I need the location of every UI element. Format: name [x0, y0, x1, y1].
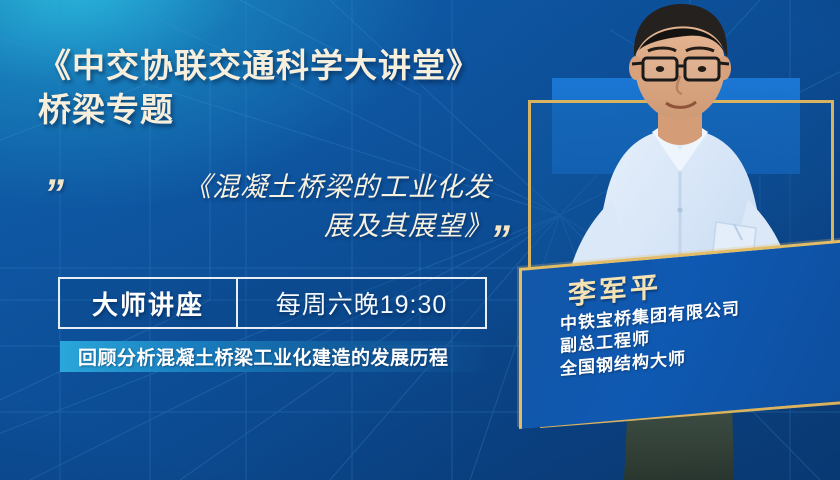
- lecture-type-label: 大师讲座: [92, 285, 204, 322]
- quote-close-icon: ”: [490, 220, 510, 260]
- title-line-1: 《中交协联交通科学大讲堂》: [38, 44, 538, 88]
- quote-open-icon: ”: [44, 174, 64, 214]
- lecture-type: 大师讲座: [60, 279, 238, 327]
- lecture-schedule-label: 每周六晚19:30: [276, 285, 448, 321]
- page-title: 《中交协联交通科学大讲堂》 桥梁专题: [38, 44, 538, 131]
- lecture-promo-poster: 李军平 中铁宝桥集团有限公司 副总工程师 全国钢结构大师 《中交协联交通科学大讲…: [0, 0, 840, 480]
- subtitle-line-2: 展及其展望》: [88, 207, 492, 246]
- speaker-info-text: 李军平 中铁宝桥集团有限公司 副总工程师 全国钢结构大师: [524, 243, 840, 432]
- lecture-schedule-box: 大师讲座 每周六晚19:30: [58, 277, 487, 329]
- subtitle-block: ” 《混凝土桥梁的工业化发 展及其展望》 ”: [40, 168, 520, 268]
- lecture-schedule: 每周六晚19:30: [238, 279, 485, 327]
- title-line-2: 桥梁专题: [38, 88, 538, 132]
- subtitle-text: 《混凝土桥梁的工业化发 展及其展望》: [88, 168, 492, 246]
- tagline-text: 回顾分析混凝土桥梁工业化建造的发展历程: [60, 343, 449, 370]
- subtitle-line-1: 《混凝土桥梁的工业化发: [88, 168, 492, 207]
- tagline-bar: 回顾分析混凝土桥梁工业化建造的发展历程: [60, 341, 490, 372]
